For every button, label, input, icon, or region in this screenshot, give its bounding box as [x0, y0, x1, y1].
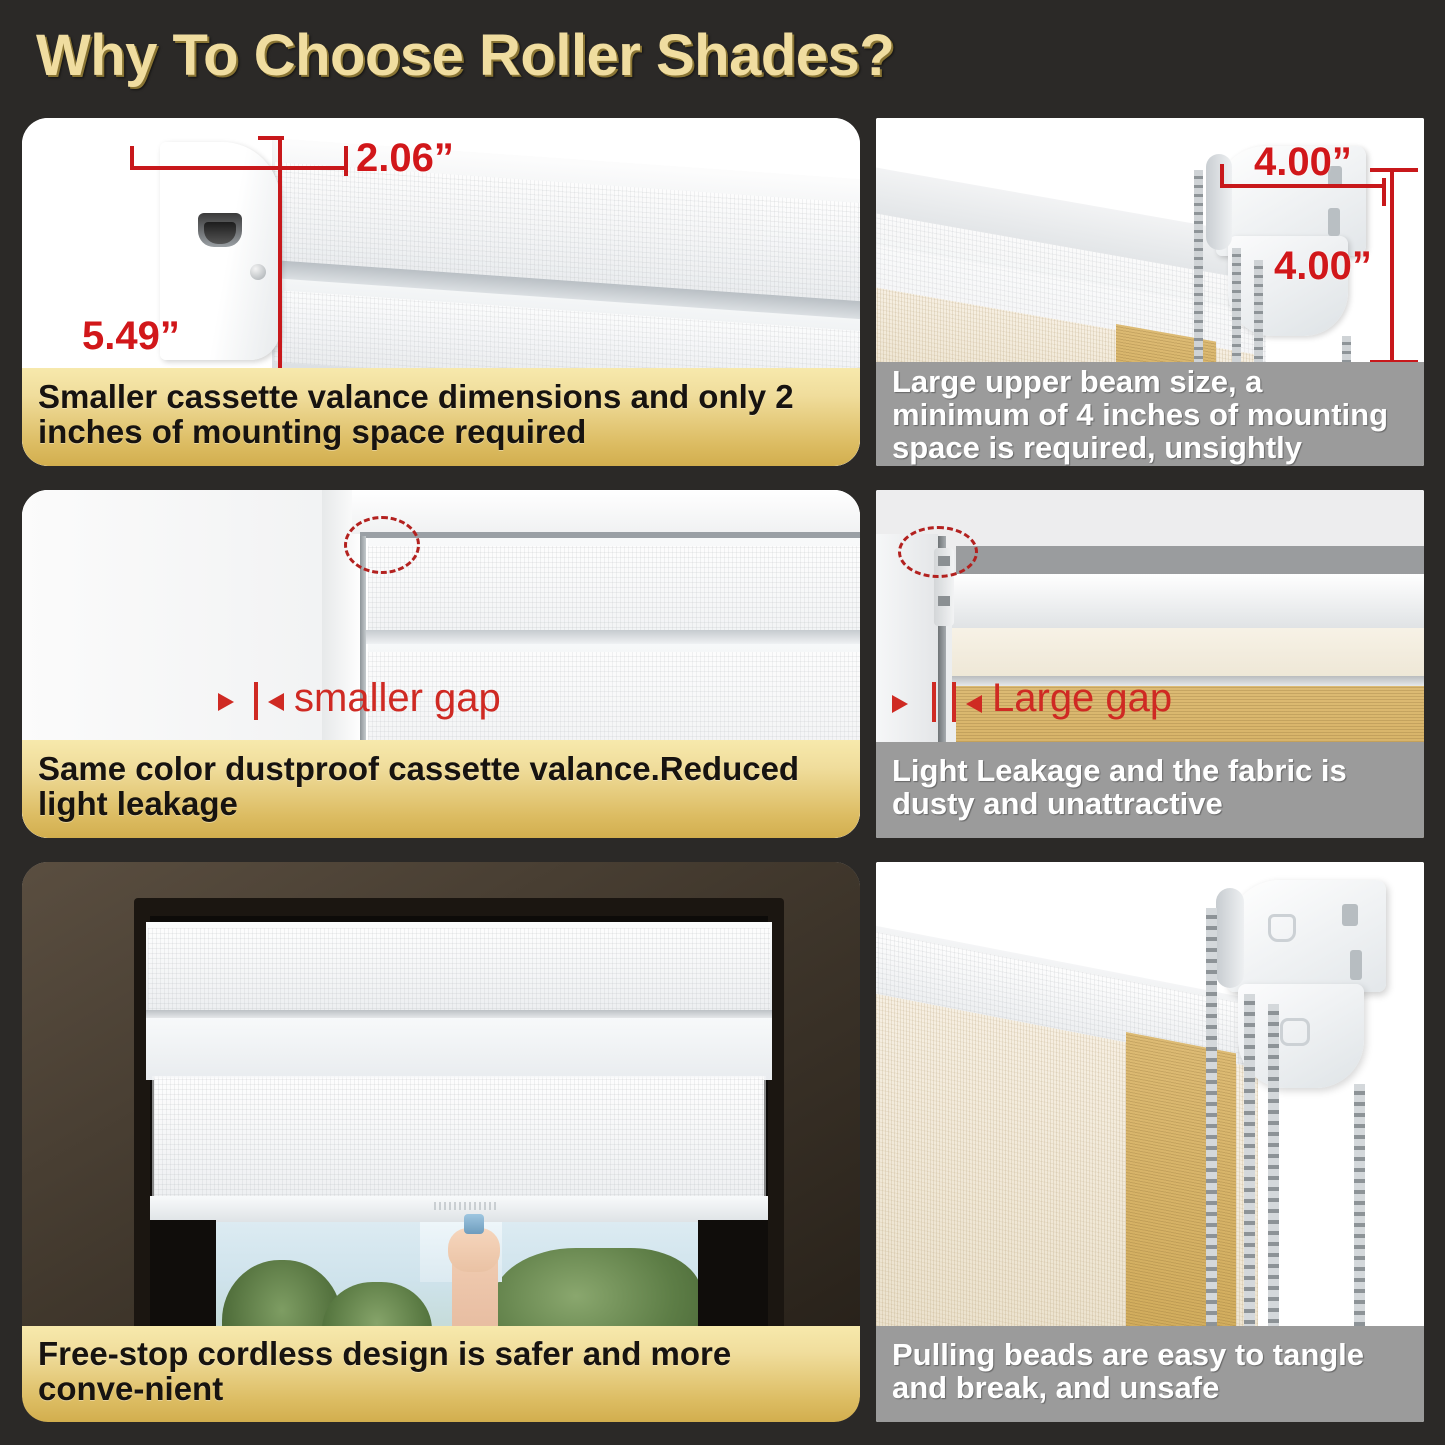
caption-top-right: Large upper beam size, a minimum of 4 in…	[876, 362, 1424, 466]
caption-bottom-left: Free-stop cordless design is safer and m…	[22, 1326, 860, 1422]
page-title: Why To Choose Roller Shades?	[36, 22, 894, 89]
panel-middle-left: smaller gap Same color dustproof cassett…	[22, 490, 860, 838]
caption-middle-left: Same color dustproof cassette valance.Re…	[22, 740, 860, 838]
dimension-line-width	[130, 166, 348, 170]
panel-bottom-right: Pulling beads are easy to tangle and bre…	[876, 862, 1424, 1422]
panel-bottom-left: Free-stop cordless design is safer and m…	[22, 862, 860, 1422]
panel-middle-right: Large gap Light Leakage and the fabric i…	[876, 490, 1424, 838]
dimension-width-label-right: 4.00”	[1254, 140, 1352, 185]
annotation-smaller-gap: smaller gap	[294, 676, 501, 721]
dimension-height-label-right: 4.00”	[1274, 244, 1372, 289]
caption-bottom-right: Pulling beads are easy to tangle and bre…	[876, 1326, 1424, 1422]
panel-top-right: 4.00” 4.00” Large upper beam size, a min…	[876, 118, 1424, 466]
panel-top-left: 2.06” 5.49” Smaller cassette valance dim…	[22, 118, 860, 466]
highlight-ellipse-gap	[344, 516, 420, 574]
highlight-ellipse-leak	[898, 526, 978, 578]
caption-middle-right: Light Leakage and the fabric is dusty an…	[876, 742, 1424, 838]
dimension-width-label: 2.06”	[356, 136, 454, 181]
infographic-page: Why To Choose Roller Shades? 2.06”	[0, 0, 1445, 1445]
annotation-large-gap: Large gap	[992, 676, 1172, 721]
caption-top-left: Smaller cassette valance dimensions and …	[22, 368, 860, 466]
dimension-height-label: 5.49”	[82, 314, 180, 359]
